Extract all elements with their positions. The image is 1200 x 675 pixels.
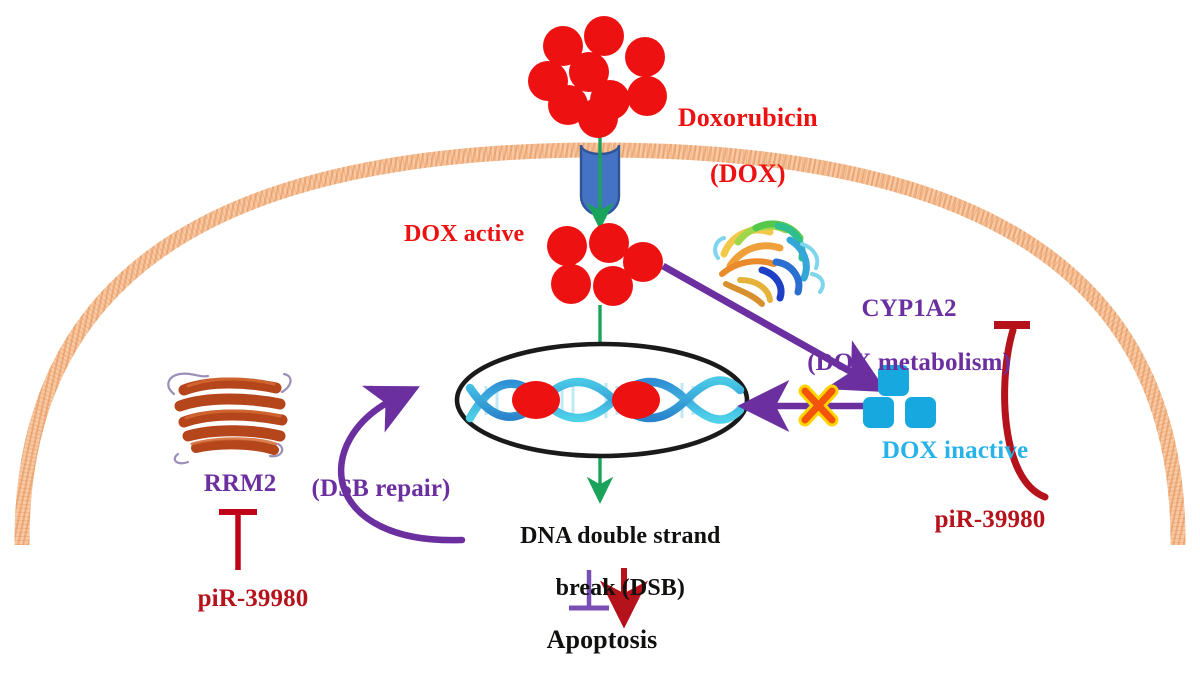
cyp1a2-label: CYP1A2 (DOX metabolism) bbox=[769, 268, 1011, 403]
dox-inactive-label: DOX inactive bbox=[882, 437, 1028, 464]
pathway-diagram-figure: Doxorubicin (DOX) DOX active CYP1A2 (DOX… bbox=[0, 0, 1200, 675]
pir-39980-left-label: piR-39980 bbox=[198, 585, 309, 612]
pir-39980-right-label: piR-39980 bbox=[935, 506, 1046, 533]
doxorubicin-label-line2: (DOX) bbox=[710, 159, 786, 188]
dsb-label-line1: DNA double strand bbox=[520, 523, 720, 549]
dsb-repair-label: (DSB repair) bbox=[312, 475, 451, 502]
diagram-text-layer: Doxorubicin (DOX) DOX active CYP1A2 (DOX… bbox=[0, 0, 1200, 675]
cyp1a2-label-line1: CYP1A2 bbox=[862, 295, 957, 322]
dna-double-strand-break-label: DNA double strand break (DSB) bbox=[483, 498, 720, 628]
cyp1a2-label-line2: (DOX metabolism) bbox=[807, 349, 1011, 376]
rrm2-label: RRM2 bbox=[204, 470, 277, 497]
doxorubicin-label: Doxorubicin (DOX) bbox=[638, 76, 817, 216]
dsb-label-line2: break (DSB) bbox=[556, 575, 685, 601]
dox-active-label: DOX active bbox=[404, 222, 524, 248]
doxorubicin-label-line1: Doxorubicin bbox=[678, 103, 818, 132]
apoptosis-label: Apoptosis bbox=[547, 626, 658, 654]
